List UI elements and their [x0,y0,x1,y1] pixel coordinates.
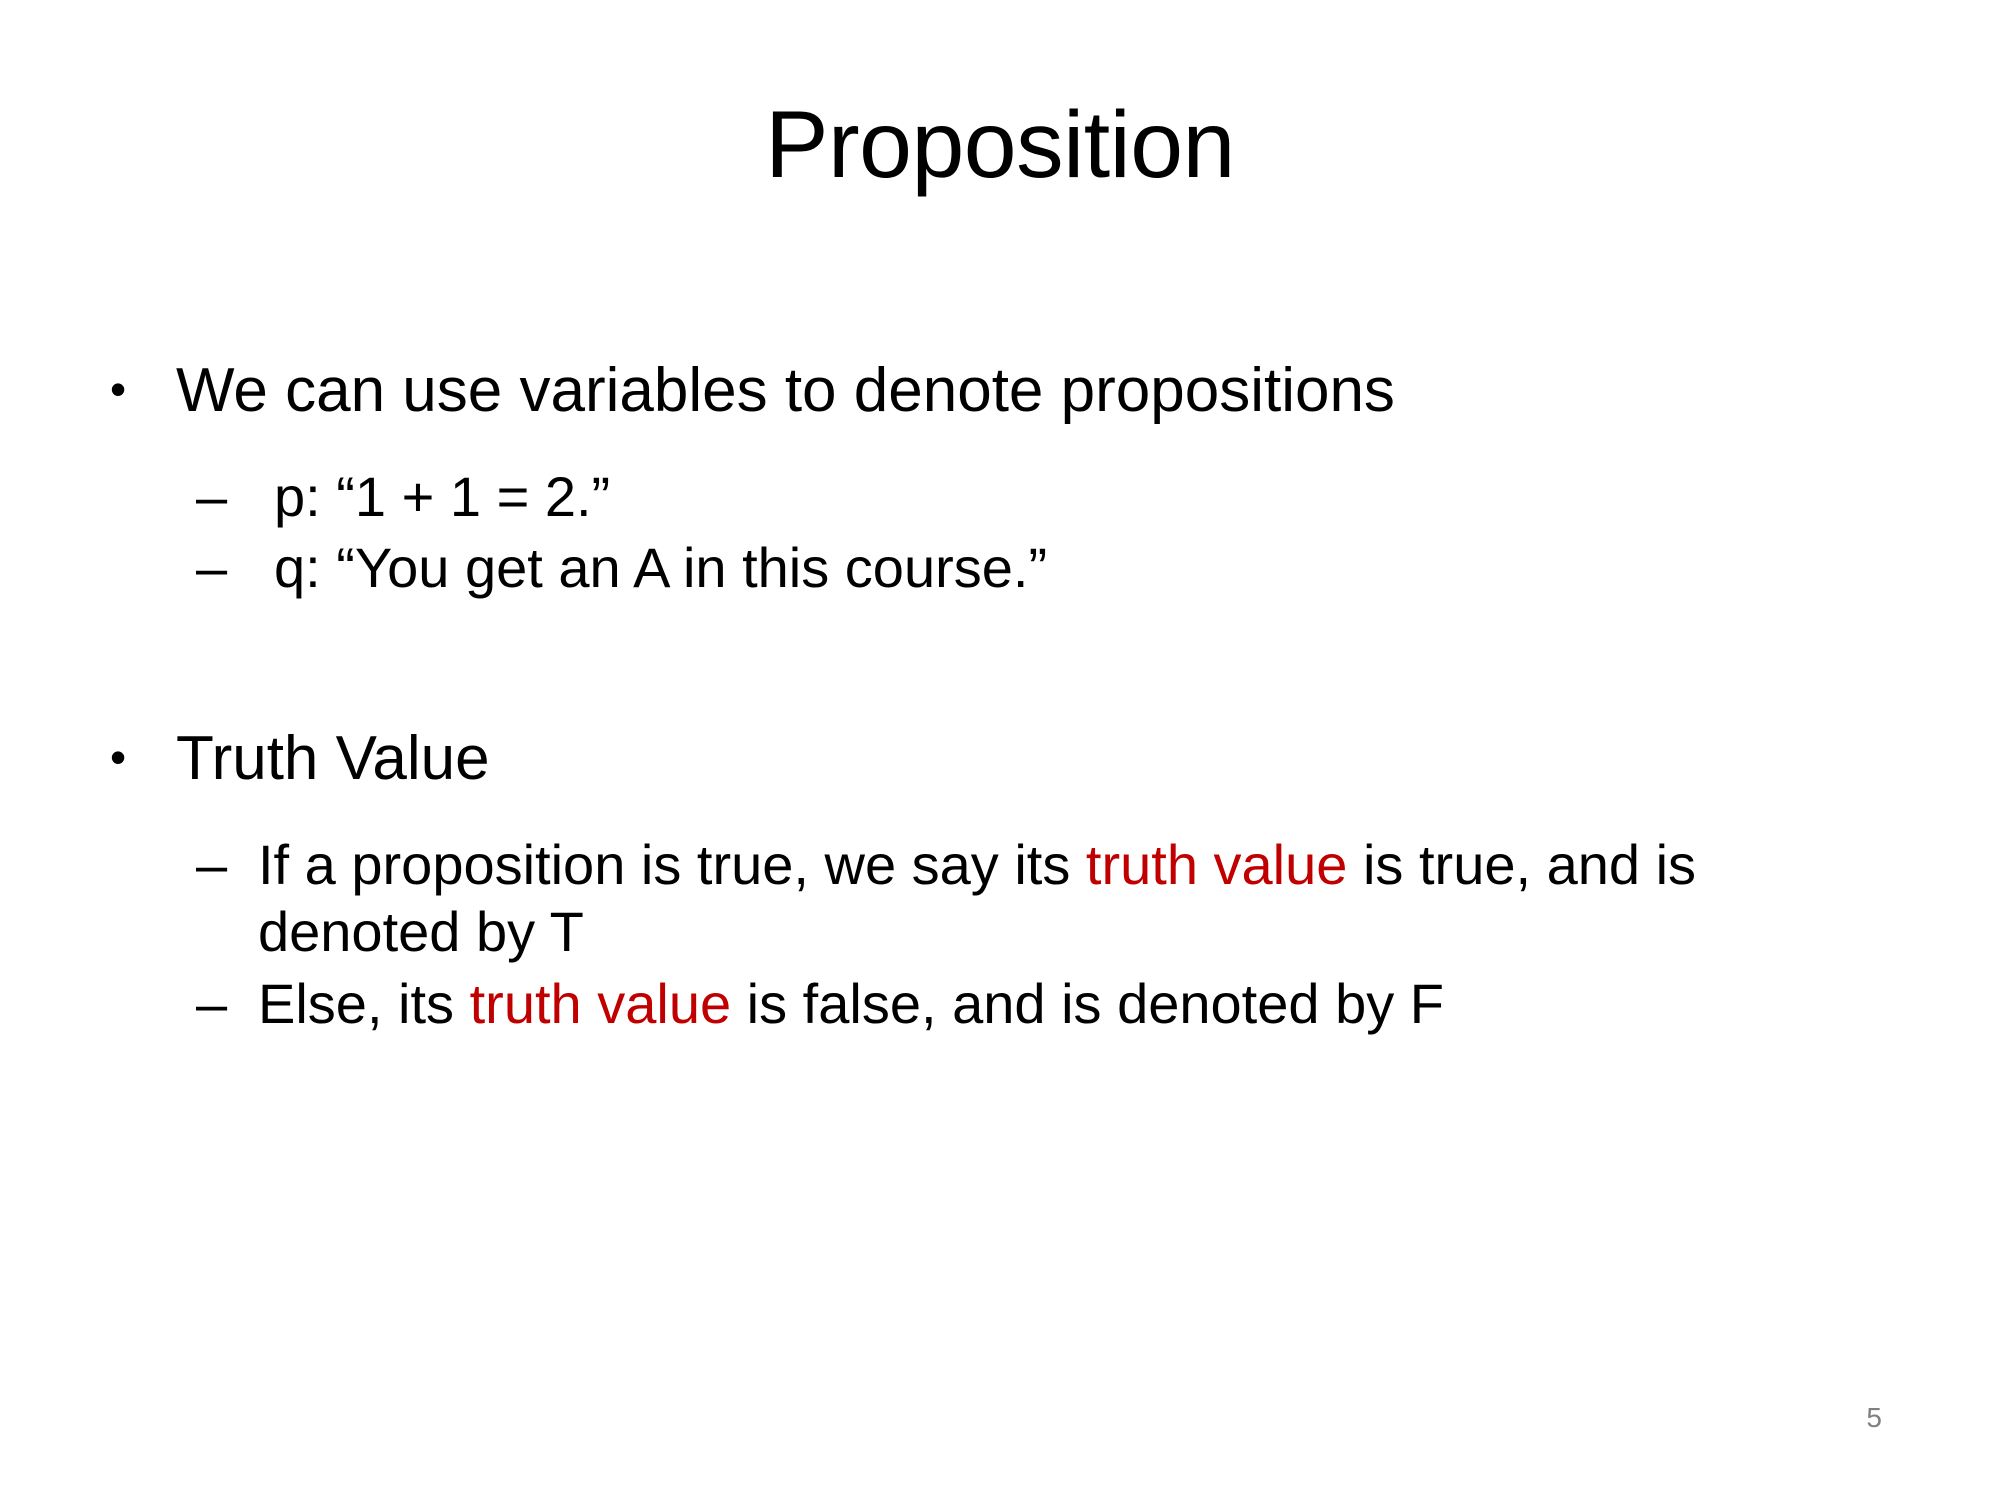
sub-bullet-true-label: If a proposition is true, we say its tru… [258,831,1708,965]
sub-bullet-q-label: q: “You get an A in this course.” [274,534,1908,601]
sub-bullet-false: – Else, its truth value is false, and is… [196,970,1908,1037]
sub-bullet-true-highlight: truth value [1086,833,1348,896]
sub-bullet-false-label: Else, its truth value is false, and is d… [258,970,1908,1037]
bullet-variables: • We can use variables to denote proposi… [108,355,1908,427]
sub-bullet-q: – q: “You get an A in this course.” [196,534,1908,601]
dash-marker-icon: – [196,831,258,898]
page-title: Proposition [0,96,2000,196]
bullet-dot-icon: • [108,723,176,793]
sub-bullet-false-text-before: Else, its [258,972,470,1035]
sub-bullet-true-text-before: If a proposition is true, we say its [258,833,1086,896]
sub-bullet-false-text-after: is false, and is denoted by F [731,972,1444,1035]
slide-body: • We can use variables to denote proposi… [108,355,1908,1041]
sub-bullet-p: – p: “1 + 1 = 2.” [196,463,1908,530]
sub-bullet-p-label: p: “1 + 1 = 2.” [274,463,1908,530]
bullet-truth-value-label: Truth Value [176,723,1908,795]
spacer [108,801,1908,831]
dash-marker-icon: – [196,970,258,1037]
bullet-truth-value: • Truth Value [108,723,1908,795]
sub-bullet-true: – If a proposition is true, we say its t… [196,831,1908,965]
bullet-variables-label: We can use variables to denote propositi… [176,355,1908,427]
slide: Proposition • We can use variables to de… [0,0,2000,1500]
spacer [108,433,1908,463]
page-number: 5 [1866,1404,1882,1432]
section-spacer [108,605,1908,723]
sub-bullet-false-highlight: truth value [470,972,732,1035]
bullet-dot-icon: • [108,355,176,425]
dash-marker-icon: – [196,463,274,530]
dash-marker-icon: – [196,534,274,601]
